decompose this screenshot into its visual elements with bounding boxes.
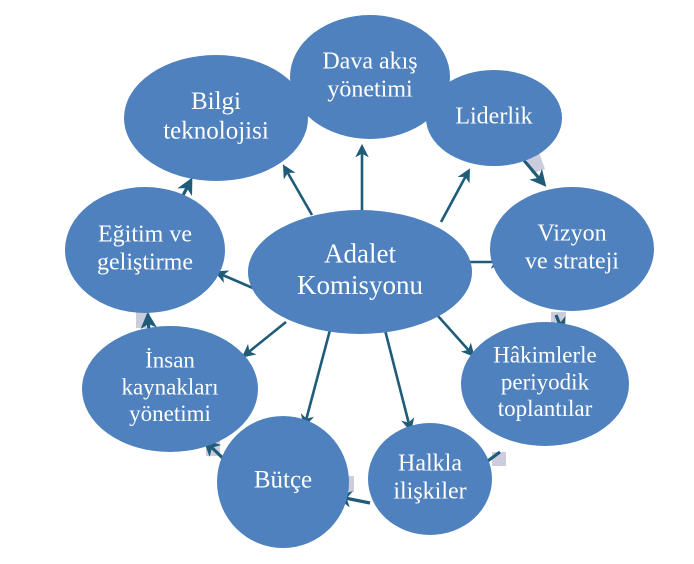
node-layer: Dava akışyönetimiLiderlikVizyonve strate… (65, 15, 654, 548)
node-butce[interactable]: Bütçe (217, 416, 349, 548)
radial-arrow-center-to-insan-kaynaklari (245, 322, 286, 355)
node-halkla-iliskiler-label: ilişkiler (393, 479, 466, 505)
node-hakimlerle-periyodik-toplantilar-label: periyodik (501, 369, 590, 394)
node-vizyon-ve-strateji[interactable]: Vizyonve strateji (490, 187, 654, 311)
node-egitim-ve-gelistirme-label: geliştirme (97, 250, 193, 276)
radial-arrow-center-to-liderlik (441, 172, 468, 222)
node-hakimlerle-periyodik-toplantilar-label: Hâkimlerle (493, 342, 596, 367)
radial-arrow-center-to-bilgi-teknolojisi (285, 168, 312, 215)
node-dava-akis-yonetimi-label: Dava akış (322, 48, 417, 74)
center-node-label: Adalet (324, 238, 396, 268)
radial-arrow-center-to-butce (305, 330, 330, 424)
node-egitim-ve-gelistirme[interactable]: Eğitim vegeliştirme (65, 187, 225, 313)
node-bilgi-teknolojisi-label: Bilgi (191, 88, 241, 115)
node-vizyon-ve-strateji-label: Vizyon (537, 220, 606, 246)
radial-arrow-center-to-halkla-iliskiler (385, 330, 410, 428)
node-halkla-iliskiler-label: Halkla (398, 450, 462, 476)
node-liderlik-label: Liderlik (455, 104, 532, 130)
center-node-label: Komisyonu (297, 270, 424, 300)
node-insan-kaynaklari-yonetimi-label: kaynakları (121, 374, 218, 399)
radial-arrow-center-to-hakimlerle (438, 316, 472, 354)
node-halkla-iliskiler[interactable]: Halklailişkiler (368, 423, 492, 535)
node-liderlik[interactable]: Liderlik (426, 70, 562, 166)
node-hakimlerle-periyodik-toplantilar-label: toplantılar (498, 396, 593, 421)
node-hakimlerle-periyodik-toplantilar[interactable]: Hâkimlerleperiyodiktoplantılar (461, 322, 629, 446)
node-bilgi-teknolojisi[interactable]: Bilgiteknolojisi (124, 55, 308, 181)
node-egitim-ve-gelistirme-label: Eğitim ve (98, 221, 192, 247)
node-insan-kaynaklari-yonetimi-label: yönetimi (129, 401, 211, 426)
diagram-canvas: Dava akışyönetimiLiderlikVizyonve strate… (0, 0, 694, 564)
node-insan-kaynaklari-yonetimi-label: İnsan (145, 347, 195, 372)
node-bilgi-teknolojisi-label: teknolojisi (163, 117, 269, 144)
node-insan-kaynaklari-yonetimi[interactable]: İnsankaynaklarıyönetimi (82, 326, 258, 452)
diagram-svg: Dava akışyönetimiLiderlikVizyonve strate… (0, 0, 694, 564)
node-butce-label: Bütçe (254, 467, 312, 494)
center-node[interactable]: AdaletKomisyonu (248, 210, 472, 334)
node-dava-akis-yonetimi-label: yönetimi (327, 77, 413, 103)
node-dava-akis-yonetimi[interactable]: Dava akışyönetimi (290, 15, 450, 139)
node-vizyon-ve-strateji-label: ve strateji (525, 249, 619, 275)
